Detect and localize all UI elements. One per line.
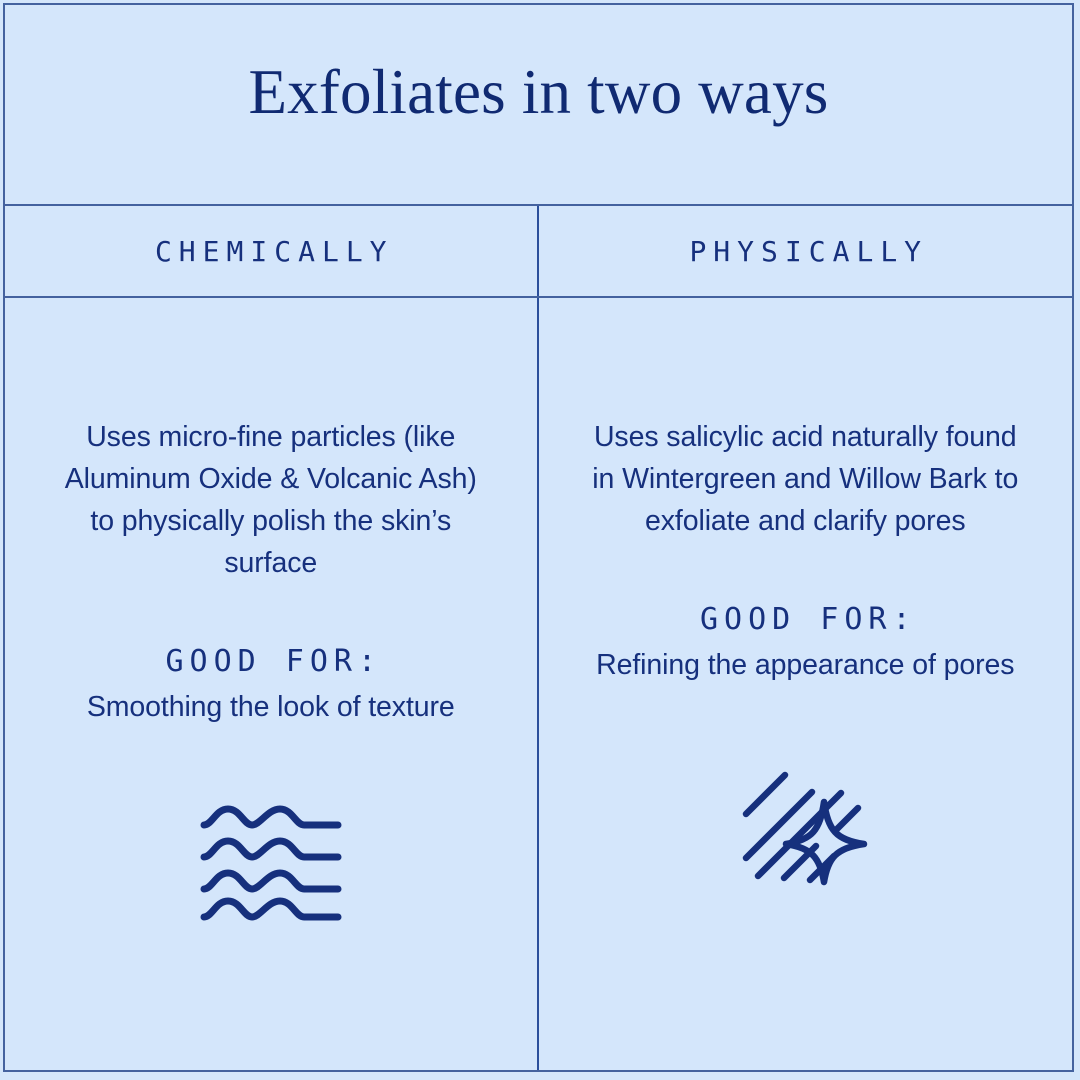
- good-for-value: Smoothing the look of texture: [87, 688, 455, 727]
- column-chemically: Uses micro-fine particles (like Aluminum…: [5, 298, 539, 1070]
- title-band: Exfoliates in two ways: [5, 5, 1072, 206]
- good-for-label: GOOD FOR:: [87, 644, 455, 679]
- column-header-label: CHEMICALLY: [148, 235, 394, 268]
- column-physically: Uses salicylic acid naturally found in W…: [539, 298, 1073, 1070]
- comparison-card: Exfoliates in two ways CHEMICALLY PHYSIC…: [3, 3, 1074, 1072]
- good-for-value: Refining the appearance of pores: [596, 646, 1014, 685]
- waves-icon: [196, 797, 346, 927]
- column-body-row: Uses micro-fine particles (like Aluminum…: [5, 298, 1072, 1070]
- good-for-label: GOOD FOR:: [596, 602, 1014, 637]
- column-header-row: CHEMICALLY PHYSICALLY: [5, 206, 1072, 298]
- sparkle-shine-icon: [730, 755, 880, 885]
- column-header-label: PHYSICALLY: [682, 235, 928, 268]
- column-header-physically: PHYSICALLY: [539, 206, 1073, 296]
- good-for-block: GOOD FOR: Refining the appearance of por…: [596, 602, 1014, 685]
- good-for-block: GOOD FOR: Smoothing the look of texture: [87, 644, 455, 727]
- page-title: Exfoliates in two ways: [248, 61, 828, 148]
- column-description: Uses salicylic acid naturally found in W…: [590, 416, 1020, 542]
- column-header-chemically: CHEMICALLY: [5, 206, 539, 296]
- column-description: Uses micro-fine particles (like Aluminum…: [56, 416, 486, 584]
